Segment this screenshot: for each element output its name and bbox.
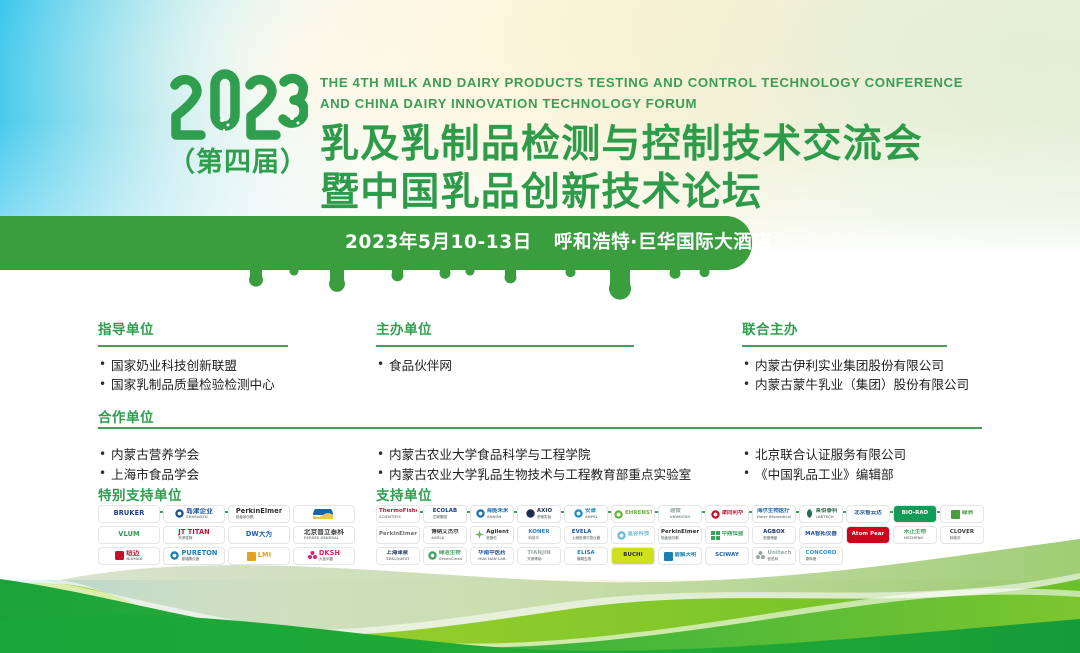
year-logo: （第四届） xyxy=(168,68,308,176)
section-cooperation: 合作单位 xyxy=(98,406,388,426)
logo-tile[interactable]: 海尔生物医疗Haier Biomedical xyxy=(752,505,796,523)
org-row-2: 合作单位 内蒙古营养学会 上海市食品学会 内蒙古农业大学食品科学与工程学院 内蒙… xyxy=(0,406,1080,484)
divider-full xyxy=(98,427,982,429)
logo-tile[interactable]: 海能未来HANON xyxy=(470,505,514,523)
divider xyxy=(98,345,288,347)
edition-label: （第四届） xyxy=(168,148,308,176)
logo-subtitle: UNIMICRO xyxy=(670,515,691,519)
logo-name: 海尔生物医疗Haier Biomedical xyxy=(757,508,791,520)
logo-name: 通微UNIMICRO xyxy=(670,508,691,520)
list-item: 《中国乳品工业》编辑部 xyxy=(742,465,992,485)
list-item: 内蒙古伊利实业集团股份有限公司 xyxy=(742,356,992,376)
logo-tile[interactable]: ECOLAB艺康集团 xyxy=(423,505,467,523)
section-guidance-list: 国家奶业科技创新联盟 国家乳制品质量检验检测中心 xyxy=(98,356,388,395)
section-host: 主办单位 食品伙伴网 xyxy=(376,318,731,375)
logo-tile[interactable]: 岛津企业SHIMADZU xyxy=(163,505,225,523)
logo-subtitle: 珀金埃尔默 xyxy=(236,515,282,519)
cooperation-col-2: 内蒙古农业大学食品科学与工程学院 内蒙古农业大学乳品生物技术与工程教育部重点实验… xyxy=(376,436,731,484)
logo-name: BRUKER xyxy=(114,510,145,517)
logo-tile[interactable]: 安谱ANPEL xyxy=(564,505,608,523)
logo-subtitle: SHIMADZU xyxy=(186,515,213,519)
title-chinese-line2: 暨中国乳品创新技术论坛 xyxy=(320,169,963,217)
logo-name: 北京智云达 xyxy=(854,510,881,517)
cooperation-col-3: 北京联合认证服务有限公司 《中国乳品工业》编辑部 xyxy=(742,436,992,484)
org-row-1: 指导单位 国家奶业科技创新联盟 国家乳制品质量检验检测中心 主办单位 食品伙伴网… xyxy=(0,318,1080,406)
list-item: 国家奶业科技创新联盟 xyxy=(98,356,388,376)
list-item: 内蒙古农业大学乳品生物技术与工程教育部重点实验室 xyxy=(376,465,731,485)
title-english-line2: AND CHINA DAIRY INNOVATION TECHNOLOGY FO… xyxy=(320,93,963,114)
logo-tile[interactable]: BRUKER xyxy=(98,505,160,523)
logo-tile[interactable]: EHRENSTORFER xyxy=(611,505,655,523)
logo-name: 海能未来HANON xyxy=(487,508,509,520)
logo-name: 安谱ANPEL xyxy=(585,508,598,520)
divider xyxy=(742,345,947,347)
logo-subtitle: LABTECH xyxy=(816,515,838,519)
logo-tile[interactable] xyxy=(293,505,355,523)
section-guidance-heading: 指导单位 xyxy=(98,318,388,338)
section-cohost-list: 内蒙古伊利实业集团股份有限公司 内蒙古蒙牛乳业（集团）股份有限公司 xyxy=(742,356,992,395)
logo-name: PerkinElmer珀金埃尔默 xyxy=(236,508,282,520)
cooperation-list-1: 内蒙古营养学会 上海市食品学会 xyxy=(98,445,388,484)
logo-tile[interactable]: ThermoFisherSCIENTIFIC xyxy=(376,505,420,523)
title-english-line1: THE 4TH MILK AND DAIRY PRODUCTS TESTING … xyxy=(320,72,963,93)
venue-label: 呼和浩特·巨华国际大酒店 xyxy=(554,232,772,253)
section-cohost-heading: 联合主办 xyxy=(742,318,992,338)
list-item: 内蒙古营养学会 xyxy=(98,445,388,465)
year-2023-svg xyxy=(168,68,308,146)
section-host-list: 食品伙伴网 xyxy=(376,356,731,376)
section-support-heading: 支持单位 xyxy=(376,484,731,504)
logo-name: ThermoFisherSCIENTIFIC xyxy=(379,508,417,520)
poster-header: （第四届） THE 4TH MILK AND DAIRY PRODUCTS TE… xyxy=(0,0,1080,300)
cooperation-list-2: 内蒙古农业大学食品科学与工程学院 内蒙古农业大学乳品生物技术与工程教育部重点实验… xyxy=(376,445,731,484)
logo-name: BIO-RAD xyxy=(902,510,929,517)
logo-tile[interactable]: 通微UNIMICRO xyxy=(658,505,702,523)
logo-tile[interactable]: 莱伯泰科LABTECH xyxy=(799,505,843,523)
logo-name: 莱伯泰科LABTECH xyxy=(816,508,838,520)
cooperation-col-1: 内蒙古营养学会 上海市食品学会 xyxy=(98,436,388,484)
date-label: 2023年5月10-13日 xyxy=(345,232,532,253)
list-item: 北京联合认证服务有限公司 xyxy=(742,445,992,465)
logo-tile[interactable]: PerkinElmer珀金埃尔默 xyxy=(228,505,290,523)
list-item: 内蒙古蒙牛乳业（集团）股份有限公司 xyxy=(742,375,992,395)
section-cooperation-heading: 合作单位 xyxy=(98,406,388,426)
organisations-area: 指导单位 国家奶业科技创新联盟 国家乳制品质量检验检测中心 主办单位 食品伙伴网… xyxy=(0,318,1080,518)
logo-subtitle: 艺康集团 xyxy=(433,515,458,519)
logo-tile[interactable]: 北京智云达 xyxy=(846,505,890,523)
logo-subtitle: SCIENTIFIC xyxy=(379,515,417,519)
hills-decoration xyxy=(0,533,1080,653)
title-block: THE 4TH MILK AND DAIRY PRODUCTS TESTING … xyxy=(320,72,963,217)
date-venue-text: 2023年5月10-13日呼和浩特·巨华国际大酒店 xyxy=(345,228,772,254)
list-item: 内蒙古农业大学食品科学与工程学院 xyxy=(376,445,731,465)
section-special-support-heading: 特别支持单位 xyxy=(98,484,388,504)
logo-subtitle: 安谱实验 xyxy=(537,515,552,519)
logo-tile[interactable]: BIO-RAD xyxy=(893,505,937,523)
section-guidance: 指导单位 国家奶业科技创新联盟 国家乳制品质量检验检测中心 xyxy=(98,318,388,395)
logo-name: AXIO安谱实验 xyxy=(537,508,552,520)
list-item: 国家乳制品质量检验检测中心 xyxy=(98,375,388,395)
title-chinese-line1: 乳及乳制品检测与控制技术交流会 xyxy=(320,121,963,169)
logo-name: EHRENSTORFER xyxy=(625,510,652,517)
list-item: 上海市食品学会 xyxy=(98,465,388,485)
logo-name: ECOLAB艺康集团 xyxy=(433,508,458,520)
section-cohost: 联合主办 内蒙古伊利实业集团股份有限公司 内蒙古蒙牛乳业（集团）股份有限公司 xyxy=(742,318,992,395)
divider xyxy=(376,345,634,347)
logo-subtitle: ANPEL xyxy=(585,515,598,519)
logo-tile[interactable]: 绿洲 xyxy=(940,505,984,523)
logo-name: 岛津企业SHIMADZU xyxy=(186,508,213,520)
list-item: 食品伙伴网 xyxy=(376,356,731,376)
conference-poster: （第四届） THE 4TH MILK AND DAIRY PRODUCTS TE… xyxy=(0,0,1080,653)
logo-subtitle: Haier Biomedical xyxy=(757,515,791,519)
logo-name: 绿洲 xyxy=(962,510,973,517)
cooperation-list-3: 北京联合认证服务有限公司 《中国乳品工业》编辑部 xyxy=(742,445,992,484)
logo-tile[interactable]: AXIO安谱实验 xyxy=(517,505,561,523)
section-host-heading: 主办单位 xyxy=(376,318,731,338)
logo-name: 津同利华 xyxy=(722,510,744,517)
logo-subtitle: HANON xyxy=(487,515,509,519)
logo-tile[interactable]: 津同利华 xyxy=(705,505,749,523)
